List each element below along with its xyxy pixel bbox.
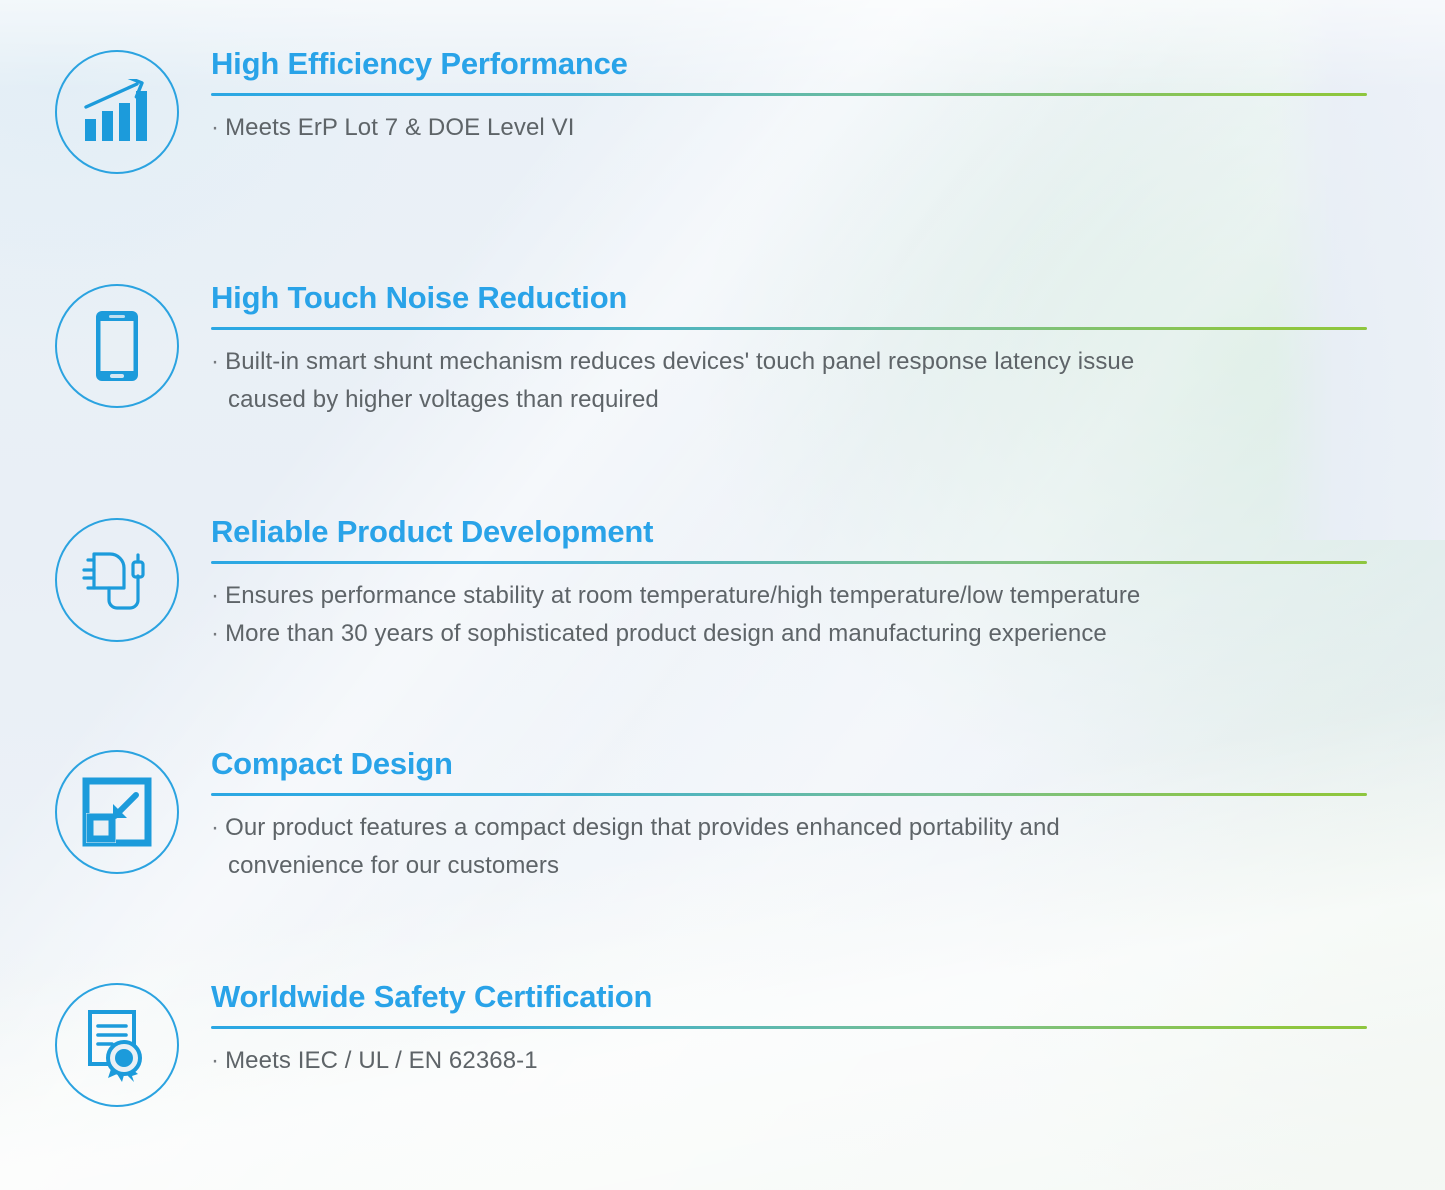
bullet-marker: · [211, 582, 219, 609]
bullet-item: ·Meets ErP Lot 7 & DOE Level VI [211, 109, 1367, 148]
feature-content: Reliable Product Development ·Ensures pe… [211, 516, 1445, 654]
feature-content: High Efficiency Performance ·Meets ErP L… [211, 48, 1445, 147]
feature-icon-container [52, 748, 182, 874]
bullet-marker: · [211, 114, 219, 141]
feature-content: Worldwide Safety Certification ·Meets IE… [211, 981, 1445, 1080]
bullet-text: Our product features a compact design th… [225, 814, 1060, 841]
feature-bullets: ·Built-in smart shunt mechanism reduces … [211, 343, 1367, 421]
bullet-item: ·More than 30 years of sophisticated pro… [211, 615, 1367, 654]
feature-icon-container [52, 48, 182, 174]
feature-bullets: ·Our product features a compact design t… [211, 809, 1367, 887]
bullet-text: Built-in smart shunt mechanism reduces d… [225, 348, 1134, 375]
certificate-award-icon [55, 983, 179, 1107]
feature-bullets: ·Meets ErP Lot 7 & DOE Level VI [211, 109, 1367, 148]
bullet-item: ·Ensures performance stability at room t… [211, 577, 1367, 616]
feature-item-high-efficiency-performance: High Efficiency Performance ·Meets ErP L… [0, 48, 1445, 174]
bullet-text-continuation: convenience for our customers [211, 847, 1367, 886]
bullet-marker: · [211, 1047, 219, 1074]
feature-title: High Touch Noise Reduction [211, 282, 1367, 315]
feature-highlights-page: High Efficiency Performance ·Meets ErP L… [0, 0, 1445, 1190]
feature-icon-container [52, 981, 182, 1107]
compact-resize-icon [55, 750, 179, 874]
bullet-marker: · [211, 814, 219, 841]
feature-divider [211, 327, 1367, 330]
bullet-marker: · [211, 620, 219, 647]
power-adapter-icon [55, 518, 179, 642]
feature-bullets: ·Meets IEC / UL / EN 62368-1 [211, 1042, 1367, 1081]
feature-icon-container [52, 516, 182, 642]
feature-item-high-touch-noise-reduction: High Touch Noise Reduction ·Built-in sma… [0, 282, 1445, 420]
feature-divider [211, 1026, 1367, 1029]
feature-item-compact-design: Compact Design ·Our product features a c… [0, 748, 1445, 886]
bullet-text: Ensures performance stability at room te… [225, 582, 1140, 609]
bullet-text-continuation: caused by higher voltages than required [211, 381, 1367, 420]
bullet-text: Meets ErP Lot 7 & DOE Level VI [225, 114, 574, 141]
bullet-text: More than 30 years of sophisticated prod… [225, 620, 1107, 647]
feature-icon-container [52, 282, 182, 408]
bullet-item: ·Built-in smart shunt mechanism reduces … [211, 343, 1367, 421]
feature-content: Compact Design ·Our product features a c… [211, 748, 1445, 886]
bullet-marker: · [211, 348, 219, 375]
bullet-text: Meets IEC / UL / EN 62368-1 [225, 1047, 538, 1074]
feature-item-worldwide-safety-certification: Worldwide Safety Certification ·Meets IE… [0, 981, 1445, 1107]
smartphone-icon [55, 284, 179, 408]
feature-divider [211, 93, 1367, 96]
feature-content: High Touch Noise Reduction ·Built-in sma… [211, 282, 1445, 420]
feature-bullets: ·Ensures performance stability at room t… [211, 577, 1367, 655]
feature-title: High Efficiency Performance [211, 48, 1367, 81]
feature-title: Compact Design [211, 748, 1367, 781]
feature-item-reliable-product-development: Reliable Product Development ·Ensures pe… [0, 516, 1445, 654]
feature-title: Worldwide Safety Certification [211, 981, 1367, 1014]
feature-divider [211, 793, 1367, 796]
feature-divider [211, 561, 1367, 564]
bullet-item: ·Meets IEC / UL / EN 62368-1 [211, 1042, 1367, 1081]
bullet-item: ·Our product features a compact design t… [211, 809, 1367, 887]
bar-chart-growth-icon [55, 50, 179, 174]
feature-title: Reliable Product Development [211, 516, 1367, 549]
